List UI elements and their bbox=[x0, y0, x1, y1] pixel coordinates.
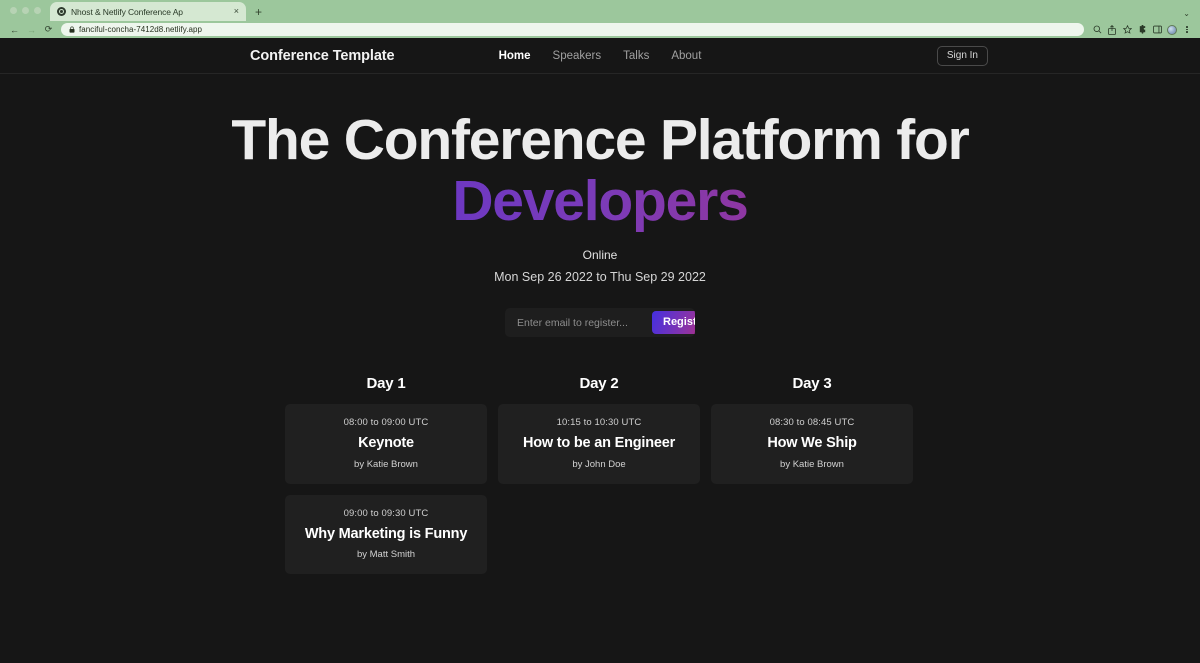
hero-title-line-1: The Conference Platform for bbox=[231, 108, 968, 172]
talk-title: Why Marketing is Funny bbox=[295, 526, 477, 543]
day-heading: Day 2 bbox=[498, 375, 700, 392]
email-field[interactable] bbox=[517, 308, 652, 337]
talk-card[interactable]: 10:15 to 10:30 UTC How to be an Engineer… bbox=[498, 404, 700, 484]
talk-time: 09:00 to 09:30 UTC bbox=[295, 508, 477, 519]
talk-title: How We Ship bbox=[721, 435, 903, 452]
day-column-2: Day 2 10:15 to 10:30 UTC How to be an En… bbox=[498, 375, 700, 585]
browser-tab[interactable]: Nhost & Netlify Conference Ap × bbox=[50, 2, 246, 21]
lock-icon bbox=[69, 26, 75, 33]
main-navigation: Home Speakers Talks About bbox=[499, 50, 702, 62]
hero-title-accent: Developers bbox=[0, 171, 1200, 232]
talk-title: Keynote bbox=[295, 435, 477, 452]
close-window-button[interactable] bbox=[10, 7, 17, 14]
talk-card[interactable]: 09:00 to 09:30 UTC Why Marketing is Funn… bbox=[285, 495, 487, 575]
register-button[interactable]: Register bbox=[652, 311, 695, 334]
hero-section: The Conference Platform for Developers O… bbox=[0, 74, 1200, 337]
talk-speaker: by Matt Smith bbox=[295, 549, 477, 560]
day-heading: Day 1 bbox=[285, 375, 487, 392]
profile-avatar[interactable] bbox=[1165, 23, 1179, 37]
conference-location: Online bbox=[0, 248, 1200, 262]
talk-title: How to be an Engineer bbox=[508, 435, 690, 452]
zoom-icon[interactable] bbox=[1090, 23, 1104, 37]
toolbar-actions bbox=[1090, 23, 1194, 37]
bookmark-star-icon[interactable] bbox=[1120, 23, 1134, 37]
close-tab-icon[interactable]: × bbox=[234, 7, 239, 16]
schedule-section: Day 1 08:00 to 09:00 UTC Keynote by Kati… bbox=[285, 375, 915, 585]
new-tab-button[interactable]: + bbox=[255, 6, 262, 21]
page-viewport: Conference Template Home Speakers Talks … bbox=[0, 38, 1200, 663]
day-heading: Day 3 bbox=[711, 375, 913, 392]
conference-dates: Mon Sep 26 2022 to Thu Sep 29 2022 bbox=[0, 270, 1200, 284]
reload-button[interactable]: ⟳ bbox=[40, 23, 57, 37]
favicon-icon bbox=[57, 7, 66, 16]
tab-strip: Nhost & Netlify Conference Ap × + ⌄ bbox=[0, 0, 1200, 21]
address-bar-url: fanciful-concha-7412d8.netlify.app bbox=[79, 25, 202, 34]
nav-item-talks[interactable]: Talks bbox=[623, 50, 649, 62]
talk-card[interactable]: 08:30 to 08:45 UTC How We Ship by Katie … bbox=[711, 404, 913, 484]
page-title: The Conference Platform for Developers bbox=[0, 110, 1200, 232]
window-traffic-lights bbox=[8, 0, 50, 21]
register-form: Register bbox=[505, 308, 695, 337]
back-button[interactable]: ← bbox=[6, 23, 23, 37]
talk-time: 10:15 to 10:30 UTC bbox=[508, 417, 690, 428]
browser-toolbar: ← → ⟳ fanciful-concha-7412d8.netlify.app bbox=[0, 21, 1200, 38]
nav-item-speakers[interactable]: Speakers bbox=[553, 50, 602, 62]
talk-card[interactable]: 08:00 to 09:00 UTC Keynote by Katie Brow… bbox=[285, 404, 487, 484]
nav-item-about[interactable]: About bbox=[671, 50, 701, 62]
tab-title: Nhost & Netlify Conference Ap bbox=[71, 7, 229, 17]
sign-in-button[interactable]: Sign In bbox=[937, 46, 988, 66]
day-column-3: Day 3 08:30 to 08:45 UTC How We Ship by … bbox=[711, 375, 913, 585]
site-brand[interactable]: Conference Template bbox=[250, 48, 394, 64]
extensions-puzzle-icon[interactable] bbox=[1135, 23, 1149, 37]
sidebar-panel-icon[interactable] bbox=[1150, 23, 1164, 37]
browser-menu-icon[interactable] bbox=[1180, 23, 1194, 37]
share-icon[interactable] bbox=[1105, 23, 1119, 37]
day-column-1: Day 1 08:00 to 09:00 UTC Keynote by Kati… bbox=[285, 375, 487, 585]
talk-speaker: by Katie Brown bbox=[721, 459, 903, 470]
chevron-down-icon[interactable]: ⌄ bbox=[1183, 9, 1190, 18]
forward-button[interactable]: → bbox=[23, 23, 40, 37]
maximize-window-button[interactable] bbox=[34, 7, 41, 14]
nav-item-home[interactable]: Home bbox=[499, 50, 531, 62]
talk-speaker: by Katie Brown bbox=[295, 459, 477, 470]
minimize-window-button[interactable] bbox=[22, 7, 29, 14]
site-header: Conference Template Home Speakers Talks … bbox=[0, 38, 1200, 74]
talk-speaker: by John Doe bbox=[508, 459, 690, 470]
talk-time: 08:00 to 09:00 UTC bbox=[295, 417, 477, 428]
browser-chrome: Nhost & Netlify Conference Ap × + ⌄ ← → … bbox=[0, 0, 1200, 38]
address-bar[interactable]: fanciful-concha-7412d8.netlify.app bbox=[61, 23, 1084, 36]
talk-time: 08:30 to 08:45 UTC bbox=[721, 417, 903, 428]
